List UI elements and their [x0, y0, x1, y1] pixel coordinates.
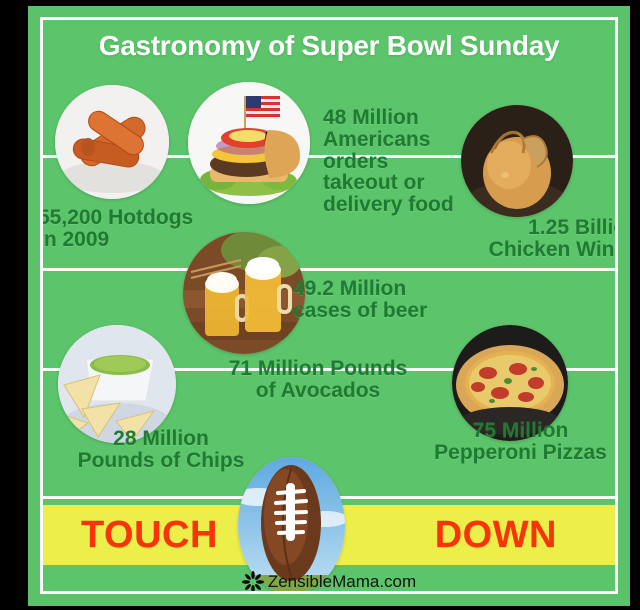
page-title: Gastronomy of Super Bowl Sunday	[43, 30, 615, 62]
stat-beer-line2: cases of beer	[293, 300, 508, 322]
stat-pizza: 75 Million Pepperoni Pizzas	[388, 420, 615, 464]
guacamole-with-chips-photo	[58, 325, 176, 443]
touch-label: TOUCH	[81, 514, 218, 557]
stat-hotdogs-line1: 55,200 Hotdogs	[43, 207, 273, 229]
infographic-canvas: Gastronomy of Super Bowl Sunday	[0, 0, 640, 610]
site-logo[interactable]: ZensibleMama.com	[43, 569, 615, 591]
stat-avocados-line2: of Avocados	[173, 380, 463, 402]
stat-chips-line1: 28 Million	[43, 428, 291, 450]
yard-line-2	[43, 268, 615, 271]
cheeseburger-with-american-flag-photo	[188, 82, 310, 204]
stat-wings-line2: Chicken Wings	[393, 239, 615, 261]
stat-hotdogs-line2: in 2009	[43, 229, 273, 251]
stat-pizza-line1: 75 Million	[388, 420, 615, 442]
stat-takeout-line2: Americans	[323, 129, 508, 151]
stat-avocados-line1: 71 Million Pounds	[173, 358, 463, 380]
stat-takeout-line4: takeout or	[323, 172, 508, 194]
stat-avocados: 71 Million Pounds of Avocados	[173, 358, 463, 402]
stat-chips-line2: Pounds of Chips	[43, 450, 291, 472]
football-field-background: Gastronomy of Super Bowl Sunday	[43, 20, 615, 591]
stat-pizza-line2: Pepperoni Pizzas	[388, 442, 615, 464]
stat-hotdogs: 55,200 Hotdogs in 2009	[43, 207, 273, 251]
asterisk-flower-icon	[242, 571, 264, 591]
stat-takeout-line1: 48 Million	[323, 107, 508, 129]
stat-chicken-wings: 1.25 Billion Chicken Wings	[393, 217, 615, 261]
site-name: ZensibleMama.com	[268, 572, 416, 591]
stat-takeout-line5: delivery food	[323, 194, 508, 216]
stat-takeout-line3: orders	[323, 151, 508, 173]
stat-beer: 49.2 Million cases of beer	[293, 278, 508, 322]
stat-chips: 28 Million Pounds of Chips	[43, 428, 291, 472]
stat-wings-line1: 1.25 Billion	[393, 217, 615, 239]
hotdogs-photo	[55, 85, 169, 199]
stat-beer-line1: 49.2 Million	[293, 278, 508, 300]
stat-takeout: 48 Million Americans orders takeout or d…	[323, 107, 508, 216]
down-label: DOWN	[435, 514, 557, 557]
